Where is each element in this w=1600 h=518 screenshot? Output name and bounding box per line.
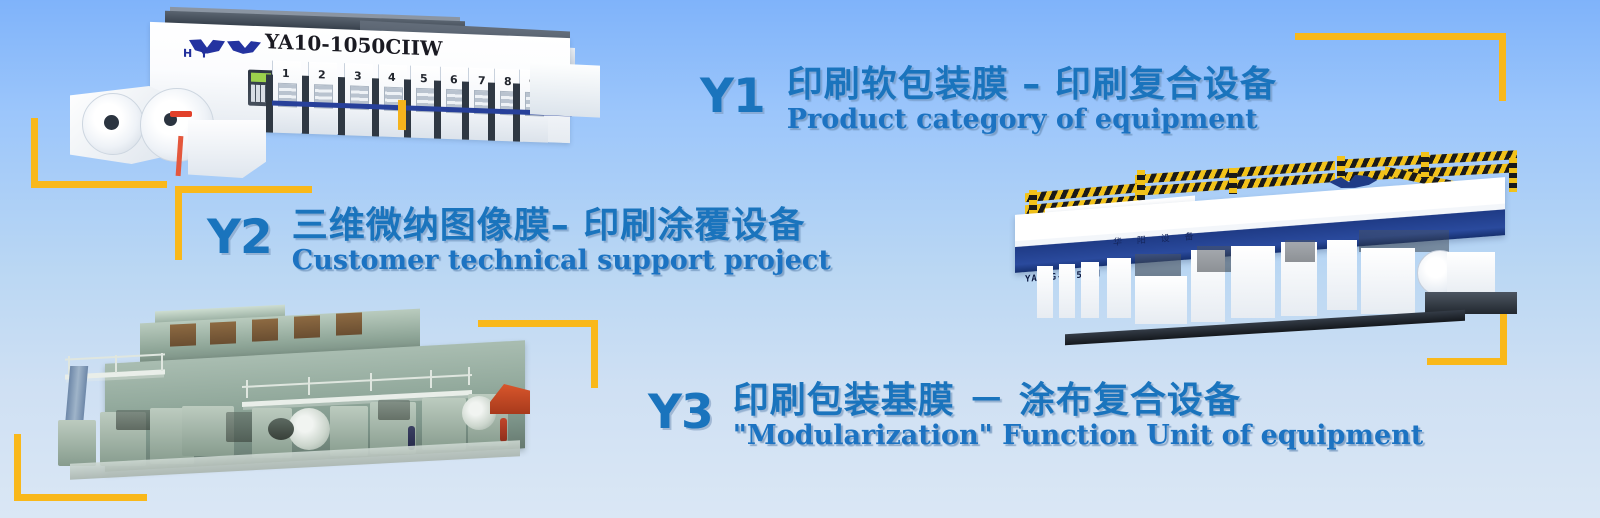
machine1-brand-plate: H Y: [175, 36, 261, 65]
machine1-station-number: 5: [420, 72, 428, 85]
machine2-rail-post: [1509, 158, 1517, 192]
machine2-drive-unit: [1285, 240, 1315, 262]
machine1-hub-1: [104, 115, 119, 130]
machine2-rail-post: [1421, 152, 1429, 178]
entry-y2-title-en: Customer technical support project: [292, 247, 831, 275]
entry-y1: Y1 印刷软包装膜 – 印刷复合设备 Product category of e…: [700, 66, 1277, 134]
machine3-gearbox: [336, 312, 362, 335]
machine1-station: 3: [344, 63, 373, 136]
machine3-walkway-post: [468, 367, 470, 385]
machine1-station-number: 7: [478, 74, 486, 87]
machine2-station-cabinet: [1037, 266, 1053, 318]
machine3-gearbox: [210, 321, 236, 344]
product-category-banner: H Y YA10-1050CIIW 1 2: [0, 0, 1600, 518]
machine2-station-cabinet: [1327, 240, 1357, 310]
machine2-station-cabinet: [1081, 262, 1099, 318]
machine3-walkway-post: [308, 377, 310, 395]
entry-y2: Y2 三维微纳图像膜– 印刷涂覆设备 Customer technical su…: [207, 207, 831, 275]
machine2-station-cabinet: [1107, 258, 1131, 318]
bracket-y2-left-horizontal: [175, 186, 312, 193]
entry-y3-title-en: "Modularization" Function Unit of equipm…: [733, 422, 1424, 450]
machine1-station-number: 1: [282, 67, 290, 80]
machine3-reel-shaft: [268, 418, 294, 440]
entry-y1-title-cn: 印刷软包装膜 – 印刷复合设备: [787, 66, 1277, 104]
machine1-base-cabinet: [188, 120, 266, 178]
bracket-y3-bottom-left-horizontal: [14, 494, 147, 501]
machine2-station-cabinet: [1059, 264, 1075, 318]
machine1-station-number: 3: [354, 70, 362, 83]
machine3-walkway-post: [115, 355, 117, 373]
machine-image-base-film-coating-line: [30, 300, 575, 480]
machine3-gearbox: [252, 318, 278, 341]
machine1-red-tab: [170, 111, 192, 117]
machine1-station: 2: [308, 62, 337, 135]
entry-y3-title-cn: 印刷包装基膜 － 涂布复合设备: [733, 382, 1424, 420]
entry-y2-title-cn: 三维微纳图像膜– 印刷涂覆设备: [292, 207, 831, 245]
machine3-center-reel: [288, 408, 330, 450]
machine3-worker: [500, 418, 507, 442]
entry-y3-code: Y3: [648, 389, 713, 436]
entry-y1-code: Y1: [700, 73, 765, 120]
machine3-walkway-post: [370, 373, 372, 391]
bracket-y1-bottom-left-vertical: [31, 118, 38, 188]
entry-y3-text: 印刷包装基膜 － 涂布复合设备 "Modularization" Functio…: [733, 382, 1424, 450]
machine1-station-number: 6: [450, 73, 458, 86]
machine2-rail-post: [1029, 190, 1037, 216]
machine1-rewind-unit: [530, 62, 600, 117]
bracket-y3-top-vertical: [591, 320, 598, 388]
machine1-station-number: 2: [318, 68, 326, 81]
entry-y2-code: Y2: [207, 214, 272, 261]
machine3-walkway-post: [246, 380, 248, 398]
machine2-rewind-cabinet: [1361, 248, 1415, 314]
entry-y1-text: 印刷软包装膜 – 印刷复合设备 Product category of equi…: [787, 66, 1277, 134]
bracket-y2-right-horizontal-2: [1427, 358, 1507, 365]
bracket-y1-top-right-horizontal: [1295, 33, 1506, 40]
machine3-cabinet: [58, 420, 96, 466]
machine2-station-cabinet: [1231, 246, 1275, 318]
machine2-station-cabinet: [1135, 276, 1187, 324]
machine-image-gravure-printing-press: H Y YA10-1050CIIW 1 2: [60, 8, 600, 178]
entry-y2-text: 三维微纳图像膜– 印刷涂覆设备 Customer technical suppo…: [292, 207, 831, 275]
entry-y1-title-en: Product category of equipment: [787, 106, 1277, 134]
machine2-roller-assembly: [1197, 246, 1231, 272]
machine2-rail-post: [1229, 168, 1237, 194]
machine1-station-number: 4: [388, 71, 396, 84]
machine3-drive: [378, 400, 410, 420]
machine1-station: 1: [272, 61, 301, 134]
bracket-y1-bottom-left-horizontal: [31, 181, 167, 188]
machine3-cabinet: [422, 398, 466, 450]
machine3-walkway-post: [430, 370, 432, 388]
machine1-yellow-marker: [398, 100, 406, 130]
machine2-rail-post: [1137, 170, 1145, 200]
bracket-y2-left-vertical: [175, 186, 182, 260]
machine3-gearbox: [294, 315, 320, 338]
machine1-brand-text: H Y: [183, 47, 210, 61]
machine3-walkway-post: [161, 353, 163, 371]
machine1-station-number: 8: [504, 75, 512, 88]
bracket-y3-bottom-left-vertical: [14, 434, 21, 501]
machine-image-laminating-coating-line: 华 阳 设 备 YATFG-1650BⅡ: [985, 150, 1525, 345]
entry-y3: Y3 印刷包装基膜 － 涂布复合设备 "Modularization" Func…: [648, 382, 1423, 450]
bracket-y1-top-right-vertical: [1499, 33, 1506, 101]
machine3-gearbox: [170, 323, 196, 346]
